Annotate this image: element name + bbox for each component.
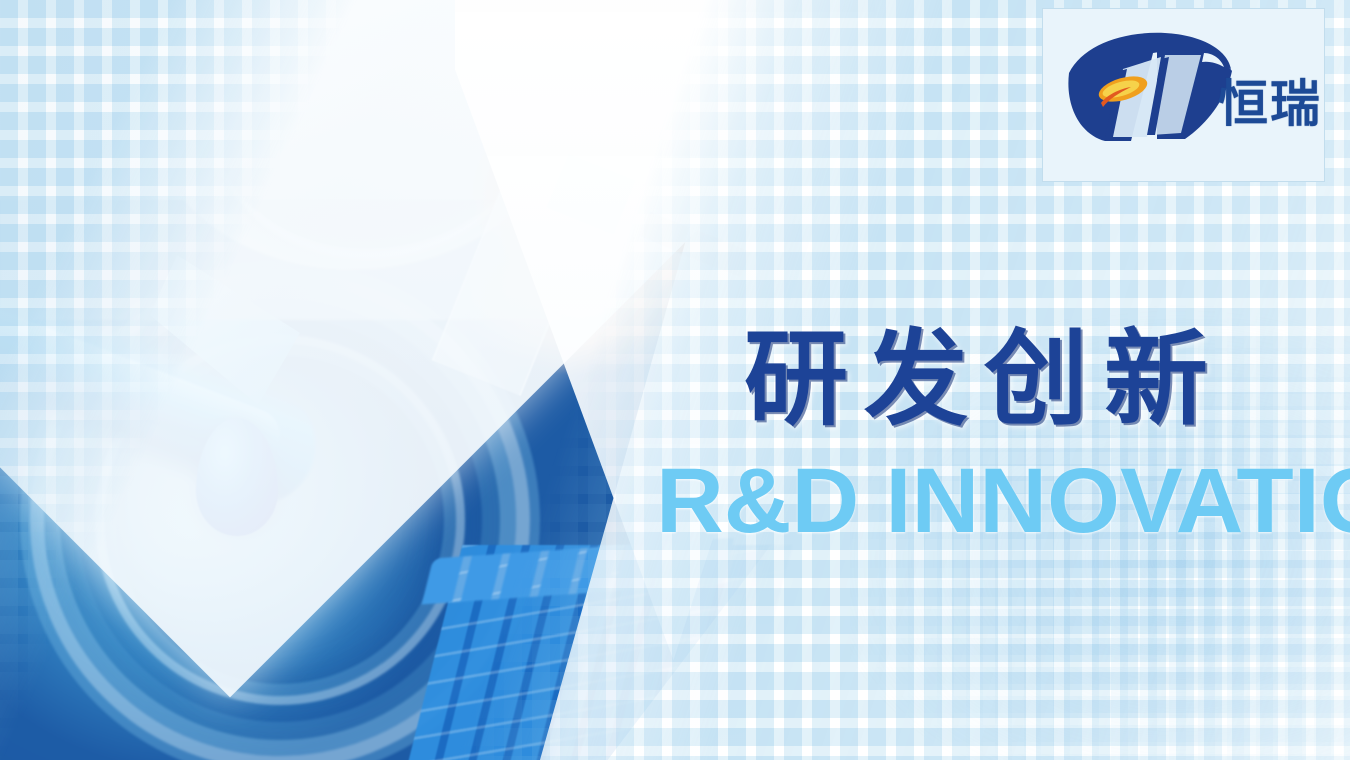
headline-chinese: 研发创新 (744, 322, 1224, 436)
headline-english: R&D INNOVATION (656, 455, 1350, 547)
logo-company-name: 恒瑞 (1218, 79, 1322, 129)
logo-plaque[interactable]: 恒瑞 (1042, 8, 1325, 182)
rd-innovation-banner: 研发创新 R&D INNOVATION 恒瑞 (0, 0, 1350, 760)
hengrui-swoosh-icon (1061, 29, 1236, 149)
